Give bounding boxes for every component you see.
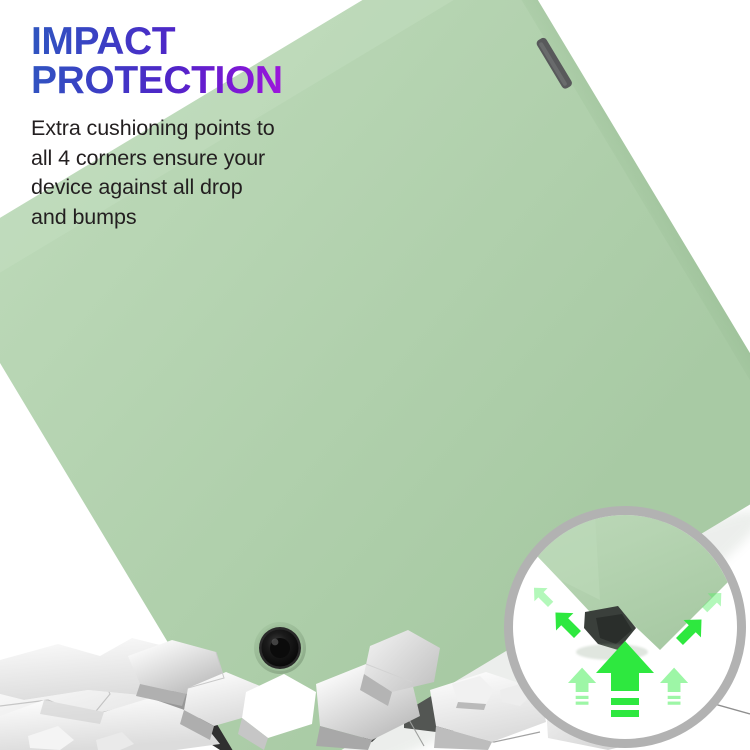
page-title: IMPACT PROTECTION (31, 22, 361, 100)
feature-description: Extra cushioning points to all 4 corners… (31, 114, 361, 232)
headline-block: IMPACT PROTECTION Extra cushioning point… (31, 22, 361, 232)
product-feature-image: IMPACT PROTECTION Extra cushioning point… (0, 0, 750, 750)
camera-module (254, 622, 306, 674)
